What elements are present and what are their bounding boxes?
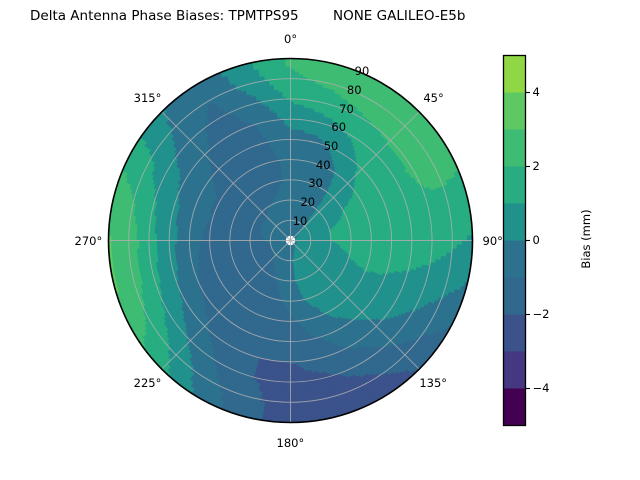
radial-tick-label: 90 bbox=[355, 64, 370, 78]
radial-tick-label: 30 bbox=[308, 176, 323, 190]
colorbar-tick-label: 2 bbox=[533, 159, 540, 173]
contour-cell bbox=[291, 101, 295, 104]
theta-tick-label: 180° bbox=[277, 436, 305, 450]
theta-tick-label: 225° bbox=[134, 376, 162, 390]
theta-tick-label: 135° bbox=[419, 376, 447, 390]
radial-tick-label: 60 bbox=[331, 120, 346, 134]
colorbar-gradient bbox=[504, 56, 526, 426]
colorbar-band bbox=[504, 204, 526, 241]
theta-tick-label: 45° bbox=[423, 91, 443, 105]
colorbar-axis-label: Bias (mm) bbox=[579, 199, 593, 279]
theta-tick-label: 315° bbox=[134, 91, 162, 105]
colorbar-band bbox=[504, 315, 526, 352]
colorbar-band bbox=[504, 56, 526, 93]
colorbar-band bbox=[504, 278, 526, 315]
radial-tick-label: 80 bbox=[347, 83, 362, 97]
theta-tick-label: 90° bbox=[483, 234, 503, 248]
colorbar-tick-label: −2 bbox=[533, 307, 550, 321]
colorbar-band bbox=[504, 352, 526, 389]
colorbar-band bbox=[504, 167, 526, 204]
radial-tick-label: 20 bbox=[300, 195, 315, 209]
contour-cell bbox=[287, 124, 290, 127]
figure-canvas: Delta Antenna Phase Biases: TPMTPS95 NON… bbox=[0, 0, 640, 480]
polar-grid-layer bbox=[109, 59, 473, 423]
radial-tick-label: 40 bbox=[316, 158, 331, 172]
page-title: Delta Antenna Phase Biases: TPMTPS95 NON… bbox=[0, 8, 640, 24]
radial-tick-label: 10 bbox=[293, 214, 308, 228]
colorbar-band bbox=[504, 241, 526, 278]
radial-tick-label: 70 bbox=[339, 102, 354, 116]
colorbar-tick-label: −4 bbox=[533, 381, 550, 395]
theta-tick-label: 0° bbox=[284, 32, 297, 46]
colorbar-band bbox=[504, 130, 526, 167]
colorbar-tick-marks bbox=[526, 93, 531, 389]
theta-tick-label: 270° bbox=[75, 234, 103, 248]
colorbar-band bbox=[504, 389, 526, 426]
colorbar-tick-label: 0 bbox=[533, 233, 540, 247]
colorbar-band bbox=[504, 93, 526, 130]
colorbar-tick-label: 4 bbox=[533, 85, 540, 99]
radial-tick-label: 50 bbox=[324, 139, 339, 153]
